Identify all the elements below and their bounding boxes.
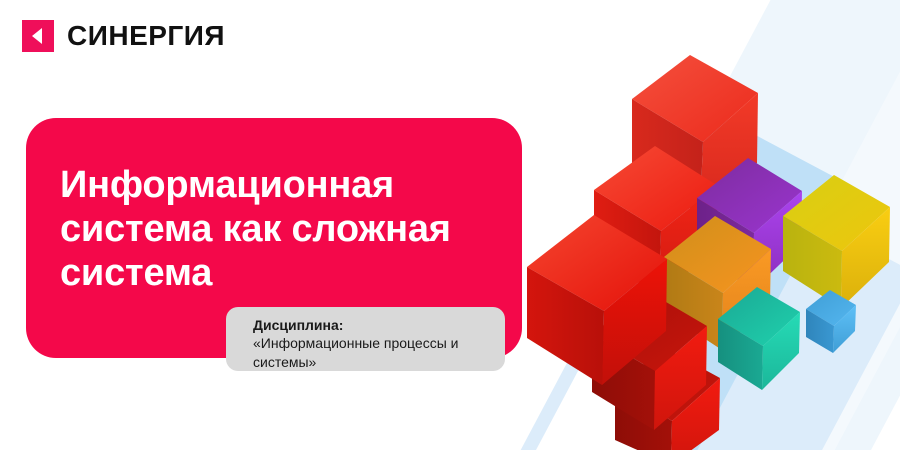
page-title: Информационная система как сложная систе…	[60, 163, 510, 295]
triangle-glyph	[32, 28, 42, 44]
brand-logo[interactable]: СИНЕРГИЯ	[22, 20, 225, 52]
slide-canvas: Информационная система как сложная систе…	[0, 0, 900, 450]
play-left-triangle-icon	[22, 20, 54, 52]
discipline-value: «Информационные процессы и системы»	[253, 334, 505, 371]
brand-name: СИНЕРГИЯ	[67, 22, 225, 50]
discipline-label: Дисциплина:	[253, 316, 505, 334]
discipline-box: Дисциплина: «Информационные процессы и с…	[226, 307, 505, 371]
